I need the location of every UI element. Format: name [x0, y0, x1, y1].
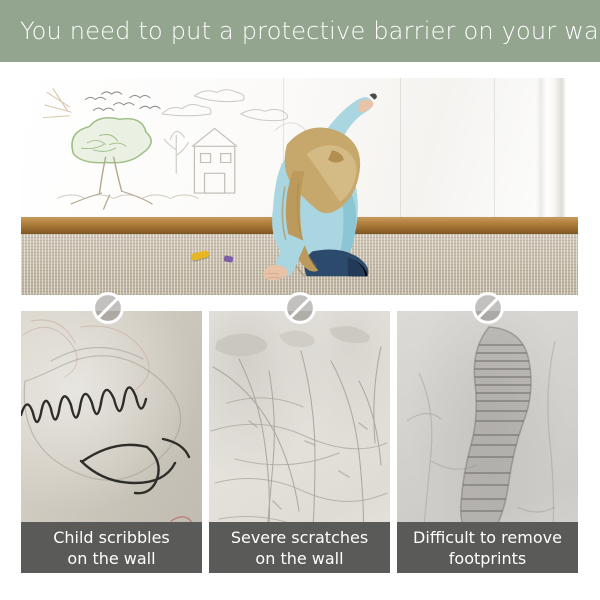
- panel-severe-scratches: Severe scratches on the wall: [209, 311, 390, 573]
- caption-line-2: footprints: [449, 549, 526, 568]
- caption-line-2: on the wall: [67, 549, 155, 568]
- panel-caption-text: Child scribbles on the wall: [47, 527, 176, 569]
- panel-caption: Child scribbles on the wall: [21, 522, 202, 573]
- panel-footprints: Difficult to remove footprints: [397, 311, 578, 573]
- panel-caption: Severe scratches on the wall: [209, 522, 390, 573]
- caption-line-2: on the wall: [255, 549, 343, 568]
- door-casing-molding: [540, 78, 566, 226]
- child-figure: [222, 91, 389, 282]
- panel-caption: Difficult to remove footprints: [397, 522, 578, 573]
- caption-line-1: Difficult to remove: [413, 528, 562, 547]
- door-panel: [566, 78, 578, 226]
- prohibited-icon: [282, 290, 318, 326]
- panel-child-scribbles: Child scribbles on the wall: [21, 311, 202, 573]
- header-banner: You need to put a protective barrier on …: [0, 0, 600, 62]
- prohibited-icon: [470, 290, 506, 326]
- wall-seam: [400, 78, 401, 221]
- prohibited-icon: [90, 290, 126, 326]
- problem-panels: Child scribbles on the wall: [21, 311, 578, 573]
- panel-caption-text: Severe scratches on the wall: [225, 527, 374, 569]
- page-title: You need to put a protective barrier on …: [0, 17, 600, 45]
- caption-line-1: Child scribbles: [53, 528, 170, 547]
- hero-image: [21, 78, 578, 295]
- panel-caption-text: Difficult to remove footprints: [407, 527, 568, 569]
- caption-line-1: Severe scratches: [231, 528, 368, 547]
- wall-seam: [494, 78, 495, 221]
